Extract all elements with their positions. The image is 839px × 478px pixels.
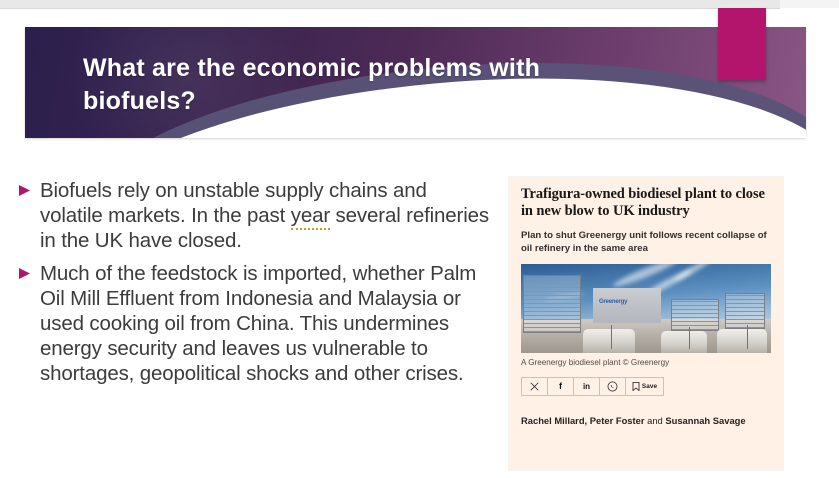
x-twitter-icon bbox=[530, 382, 539, 391]
refinery-rig-far-right bbox=[725, 293, 765, 329]
storage-tank bbox=[661, 331, 707, 353]
share-save-label: Save bbox=[642, 383, 657, 390]
article-headline: Trafigura-owned biodiesel plant to close… bbox=[521, 186, 771, 220]
accent-block-pink bbox=[718, 8, 766, 80]
list-item: Much of the feedstock is imported, wheth… bbox=[18, 261, 493, 386]
refinery-rig-right bbox=[671, 299, 719, 331]
page-title: What are the economic problems with biof… bbox=[83, 52, 616, 119]
bullet-text-2: Much of the feedstock is imported, wheth… bbox=[40, 261, 493, 386]
slide-title-banner: What are the economic problems with biof… bbox=[25, 27, 806, 138]
window-top-strip-right bbox=[780, 0, 839, 8]
tank-ladder bbox=[611, 325, 612, 349]
facebook-icon: f bbox=[559, 381, 562, 391]
share-toolbar: f in Save bbox=[521, 377, 664, 396]
plant-building-label: Greenergy bbox=[599, 299, 627, 305]
window-top-strip bbox=[0, 0, 780, 9]
article-byline: Rachel Millard, Peter Foster and Susanna… bbox=[521, 414, 771, 428]
tank-ladder bbox=[747, 325, 748, 349]
article-photo: Greenergy bbox=[521, 264, 771, 353]
plant-building: Greenergy bbox=[593, 288, 661, 323]
storage-tank bbox=[583, 329, 635, 353]
article-standfirst: Plan to shut Greenergy unit follows rece… bbox=[521, 229, 771, 255]
share-save-button[interactable]: Save bbox=[626, 378, 663, 395]
article-photo-caption: A Greenergy biodiesel plant © Greenergy bbox=[521, 358, 771, 369]
bullet-list: Biofuels rely on unstable supply chains … bbox=[18, 178, 493, 394]
share-facebook-button[interactable]: f bbox=[548, 378, 574, 395]
share-x-button[interactable] bbox=[522, 378, 548, 395]
list-item: Biofuels rely on unstable supply chains … bbox=[18, 178, 493, 253]
triangle-right-icon bbox=[18, 261, 40, 280]
linkedin-icon: in bbox=[583, 382, 590, 391]
refinery-rig-left bbox=[523, 275, 581, 333]
share-linkedin-button[interactable]: in bbox=[574, 378, 600, 395]
whatsapp-icon bbox=[607, 381, 618, 392]
grammar-flagged-word: year bbox=[291, 204, 330, 230]
news-article-card: Trafigura-owned biodiesel plant to close… bbox=[509, 177, 783, 470]
byline-author-2: Peter Foster bbox=[590, 415, 645, 426]
storage-tank bbox=[717, 329, 767, 353]
tank-ladder bbox=[689, 327, 690, 349]
share-whatsapp-button[interactable] bbox=[600, 378, 626, 395]
bookmark-icon bbox=[632, 382, 640, 391]
byline-author-1: Rachel Millard, bbox=[521, 415, 587, 426]
triangle-right-icon bbox=[18, 178, 40, 197]
byline-conjunction: and bbox=[645, 415, 666, 426]
byline-author-3: Susannah Savage bbox=[665, 415, 745, 426]
bullet-text-1: Biofuels rely on unstable supply chains … bbox=[40, 178, 493, 253]
